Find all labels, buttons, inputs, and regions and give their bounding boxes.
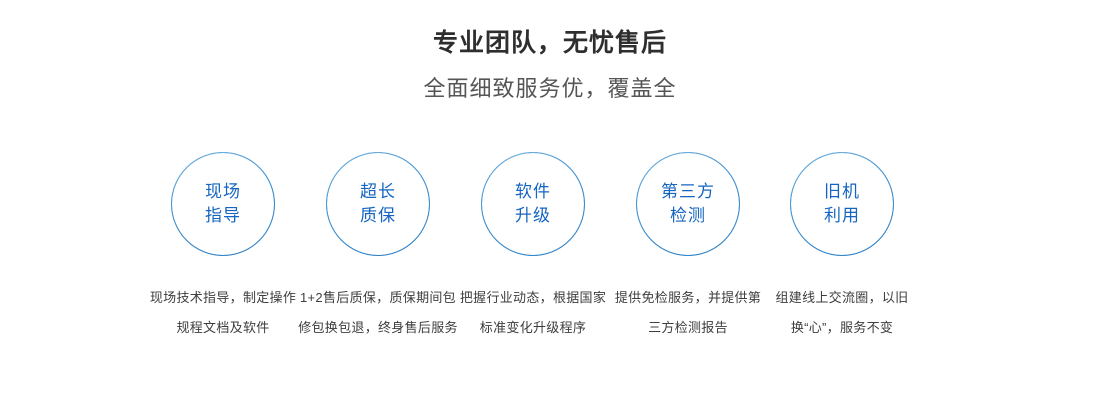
feature-circle[interactable]: 现场 指导: [171, 152, 275, 256]
feature-circle[interactable]: 软件 升级: [481, 152, 585, 256]
feature-circle[interactable]: 旧机 利用: [790, 152, 894, 256]
feature-list: 现场 指导 现场技术指导，制定操作 规程文档及软件 超长 质保 1+2售后质保，…: [171, 152, 894, 352]
feature-circle-label-line1: 现场: [205, 182, 241, 201]
feature-circle-label-line2: 质保: [360, 204, 396, 228]
feature-item-extended-warranty[interactable]: 超长 质保 1+2售后质保，质保期间包 修包换包退，终身售后服务: [326, 152, 430, 256]
feature-item-third-party-inspection[interactable]: 第三方 检测 提供免检服务，并提供第 三方检测报告: [636, 152, 740, 256]
feature-circle[interactable]: 第三方 检测: [636, 152, 740, 256]
heading-block: 专业团队，无忧售后 全面细致服务优，覆盖全: [0, 26, 1100, 104]
feature-circle-label: 软件 升级: [515, 180, 551, 228]
page-title: 专业团队，无忧售后: [0, 26, 1100, 60]
feature-circle-label-line2: 指导: [205, 204, 241, 228]
feature-item-software-upgrade[interactable]: 软件 升级 把握行业动态，根据国家 标准变化升级程序: [481, 152, 585, 256]
feature-circle-label-line1: 旧机: [824, 182, 860, 201]
page-subtitle: 全面细致服务优，覆盖全: [0, 74, 1100, 104]
feature-circle-label-line2: 检测: [661, 204, 715, 228]
service-promise-banner: 专业团队，无忧售后 全面细致服务优，覆盖全 现场 指导 现场技术指导，制定操作 …: [0, 0, 1100, 404]
feature-circle-label-line2: 利用: [824, 204, 860, 228]
feature-caption: 组建线上交流圈，以旧 换“心”，服务不变: [747, 283, 937, 343]
feature-circle-label: 超长 质保: [360, 180, 396, 228]
feature-circle-label: 旧机 利用: [824, 180, 860, 228]
feature-caption-line1: 组建线上交流圈，以旧: [747, 283, 937, 313]
feature-item-onsite-guidance[interactable]: 现场 指导 现场技术指导，制定操作 规程文档及软件: [171, 152, 275, 256]
feature-circle-label-line1: 第三方: [661, 182, 715, 201]
feature-circle[interactable]: 超长 质保: [326, 152, 430, 256]
feature-circle-label-line1: 软件: [515, 182, 551, 201]
feature-circle-label: 现场 指导: [205, 180, 241, 228]
feature-circle-label-line2: 升级: [515, 204, 551, 228]
feature-circle-label-line1: 超长: [360, 182, 396, 201]
feature-circle-label: 第三方 检测: [661, 180, 715, 228]
feature-caption-line2: 换“心”，服务不变: [747, 313, 937, 343]
feature-item-old-machine-reuse[interactable]: 旧机 利用 组建线上交流圈，以旧 换“心”，服务不变: [790, 152, 894, 256]
